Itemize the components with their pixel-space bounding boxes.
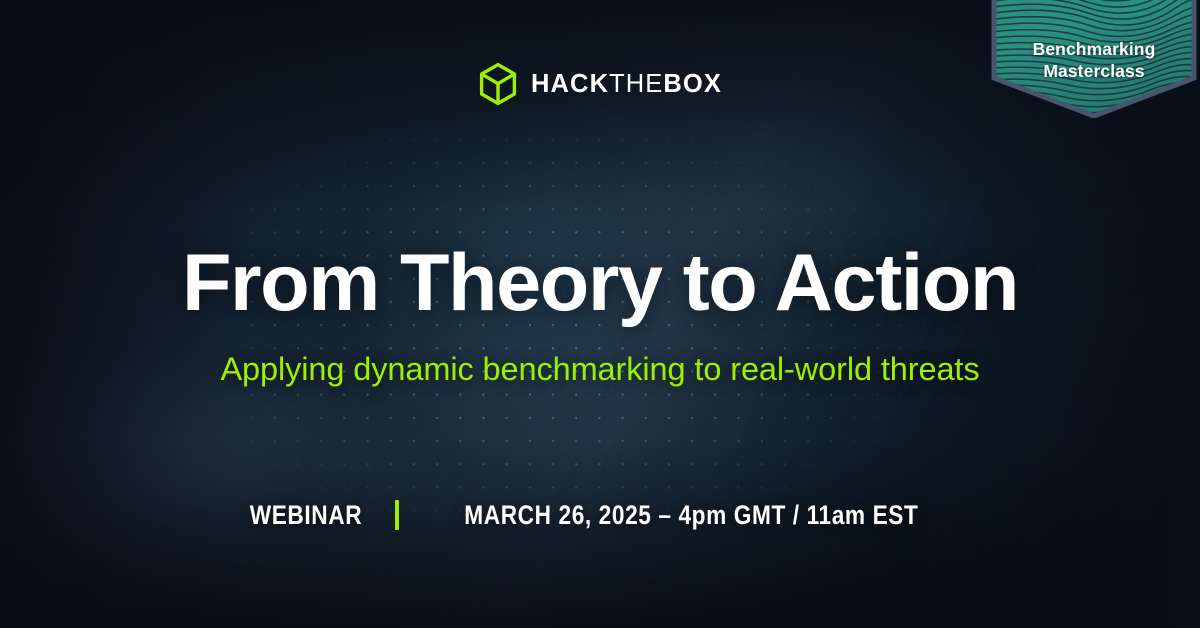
badge-label-line1: Benchmarking	[988, 38, 1200, 60]
page-subtitle: Applying dynamic benchmarking to real-wo…	[0, 352, 1200, 388]
event-datetime: MARCH 26, 2025 – 4pm GMT / 11am EST	[464, 502, 918, 529]
event-meta-line: WEBINAR MARCH 26, 2025 – 4pm GMT / 11am …	[0, 500, 1200, 530]
badge-label-line2: Masterclass	[988, 60, 1200, 82]
masterclass-badge: Benchmarking Masterclass	[988, 0, 1200, 118]
hackthebox-cube-icon	[478, 62, 518, 106]
wordmark-hack: HACK	[531, 70, 609, 98]
wordmark-box: BOX	[663, 70, 722, 98]
badge-label: Benchmarking Masterclass	[988, 38, 1200, 82]
wordmark-the: THE	[609, 70, 663, 98]
page-title: From Theory to Action	[0, 243, 1200, 324]
event-type-label: WEBINAR	[249, 502, 361, 529]
hackthebox-wordmark: HACKTHEBOX	[531, 72, 722, 98]
vertical-divider	[395, 500, 399, 530]
webinar-promo-banner: HACKTHEBOX	[0, 0, 1200, 628]
